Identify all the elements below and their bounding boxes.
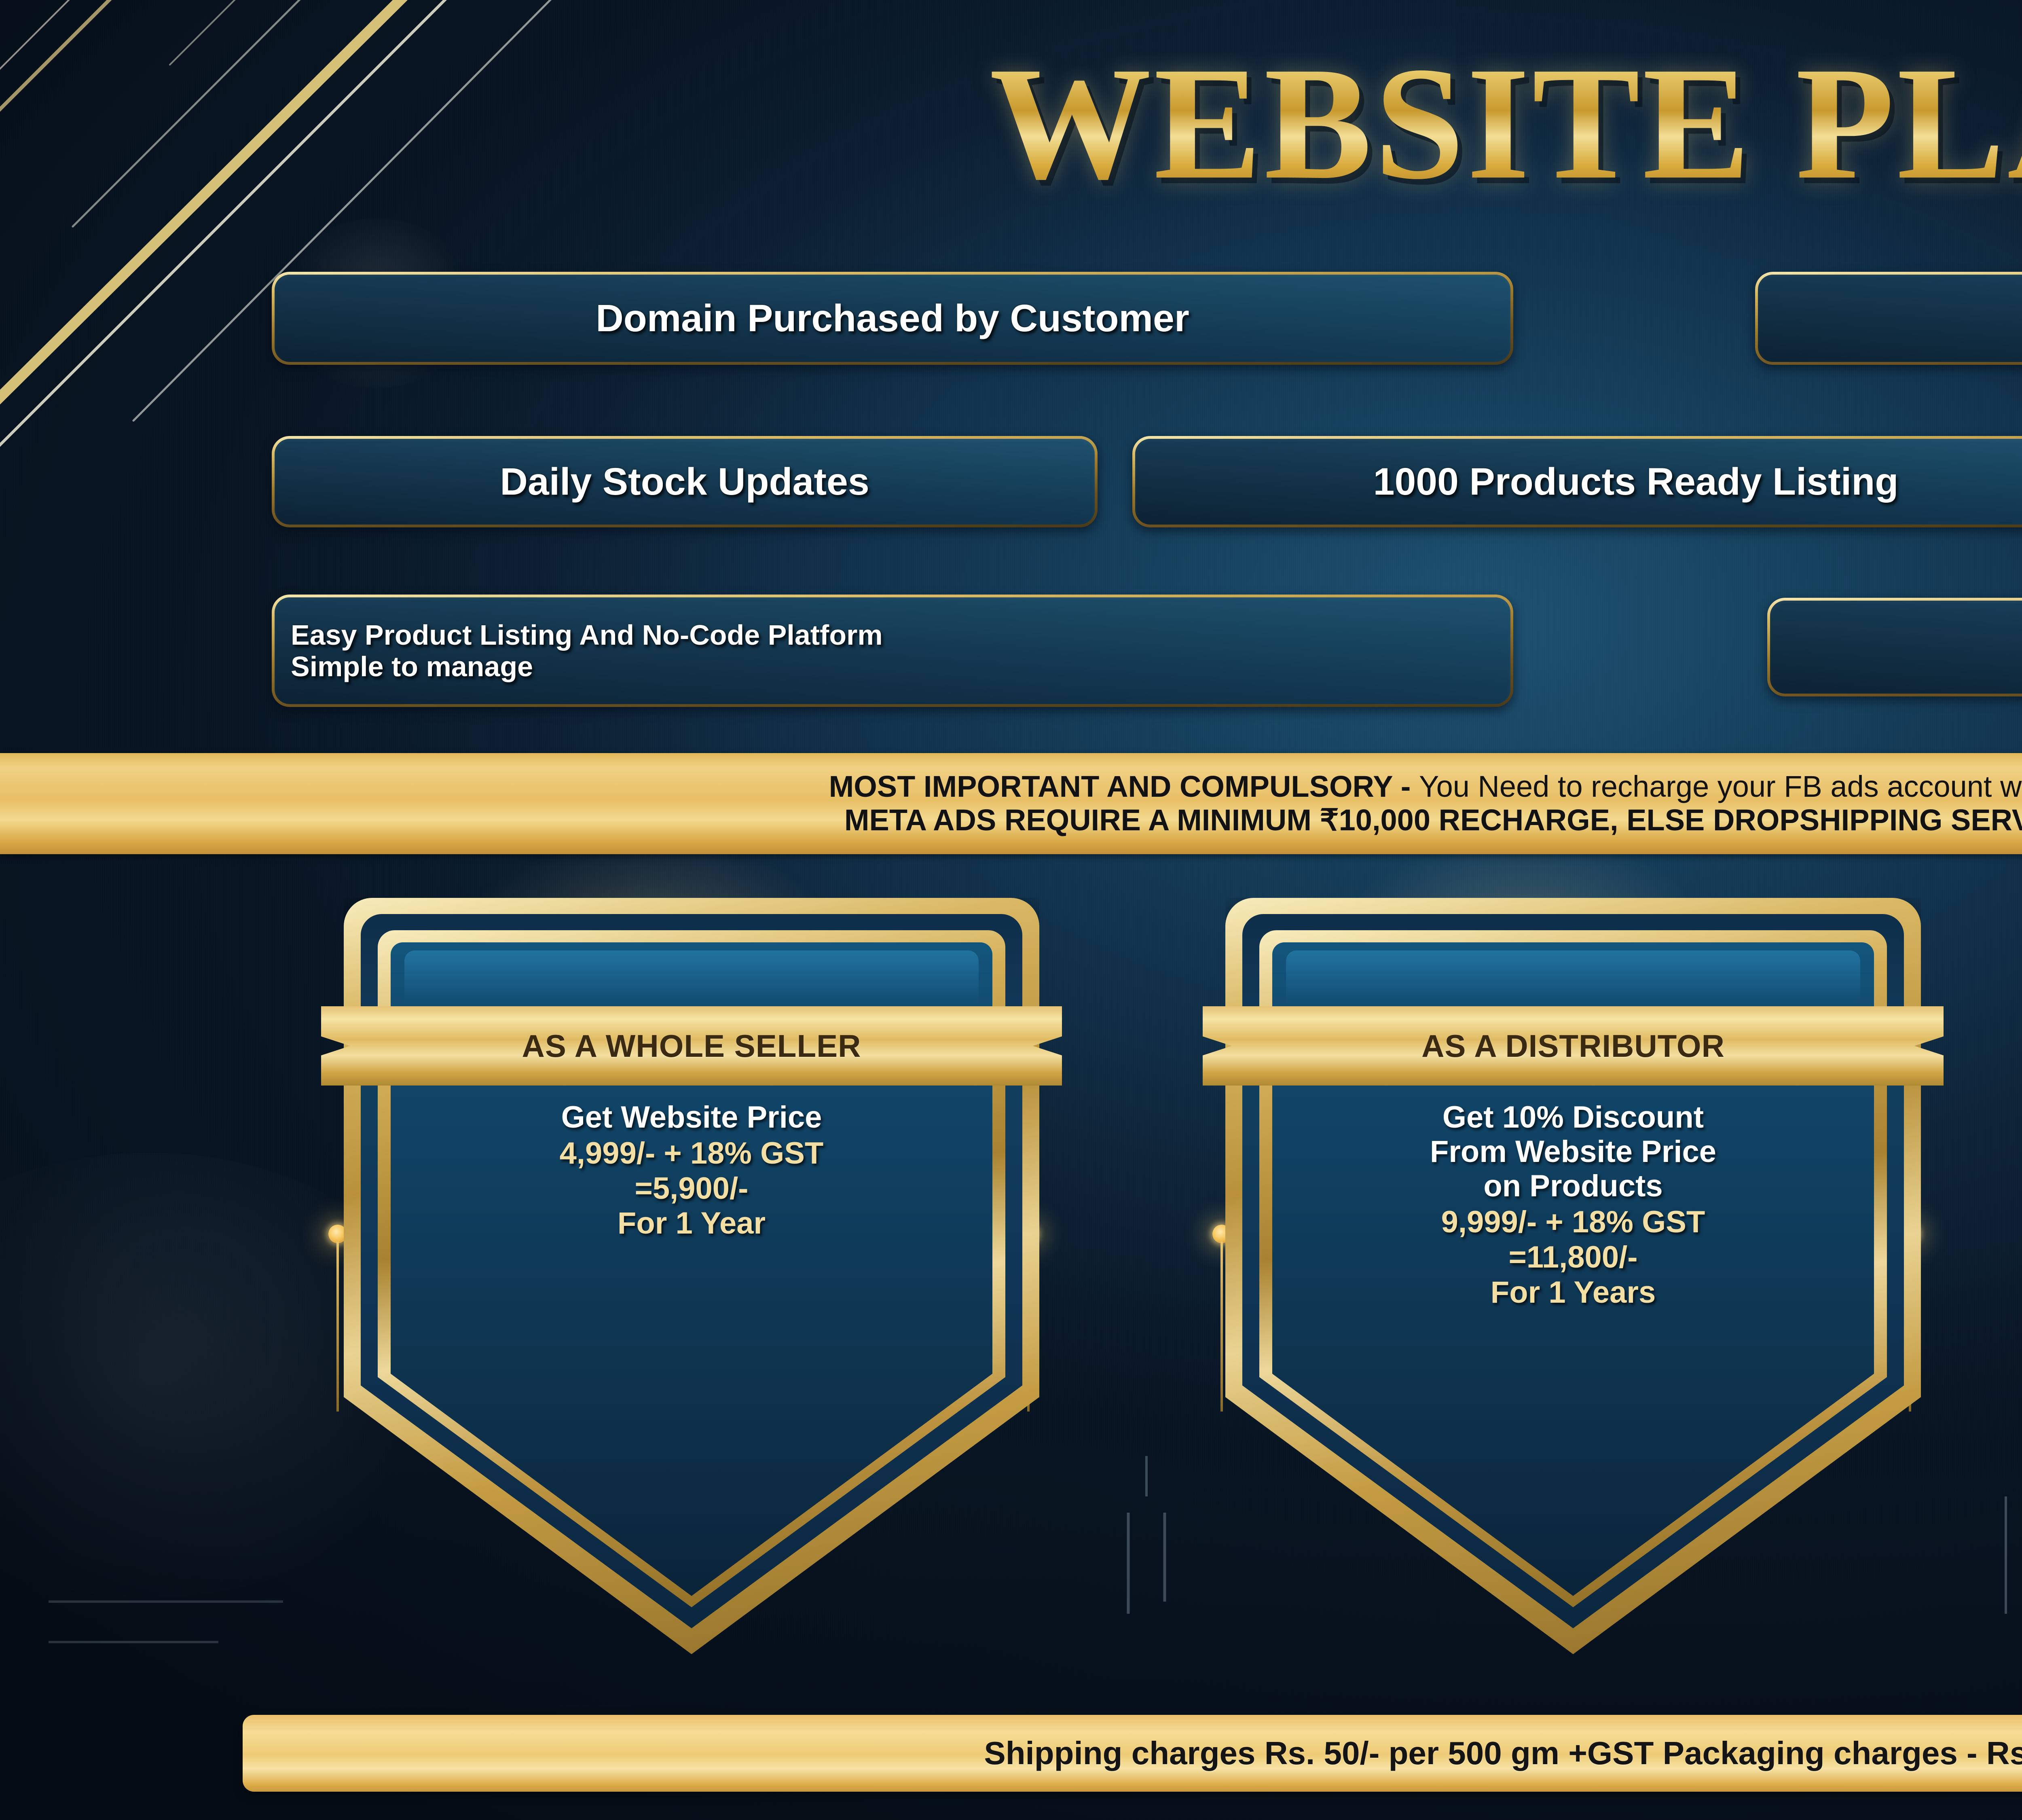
shipping-charges-label: Shipping charges Rs. 50/- per 500 gm +GS… — [984, 1735, 2022, 1772]
feature-pill-label: Daily Stock Updates — [275, 460, 1095, 504]
plan-ribbon-label: AS A WHOLE SELLER — [522, 1028, 861, 1064]
page-title: WEBSITE PLAN — [0, 42, 2022, 204]
plan-pricing: 4,999/- + 18% GST =5,900/- For 1 Year — [404, 1136, 979, 1241]
feature-pill-domain-purchased[interactable]: Domain Purchased by Customer — [272, 272, 1513, 365]
notice-line-1: MOST IMPORTANT AND COMPULSORY - You Need… — [829, 771, 2022, 802]
glow-stem — [336, 1242, 339, 1412]
glow-stem — [1220, 1242, 1223, 1412]
plan-ribbon-label: AS A DISTRIBUTOR — [1421, 1028, 1725, 1064]
feature-pill-order-management-panel[interactable]: Order Management Panel — [1755, 272, 2022, 365]
plan-content: Get 10% Discount From Website Price on P… — [1286, 1100, 1860, 1310]
plan-ribbon: AS A DISTRIBUTOR — [1203, 1006, 1944, 1086]
plan-content: Get Website Price 4,999/- + 18% GST =5,9… — [404, 1100, 979, 1241]
compulsory-notice-banner: MOST IMPORTANT AND COMPULSORY - You Need… — [0, 753, 2022, 854]
plan-pricing: 9,999/- + 18% GST =11,800/- For 1 Years — [1286, 1205, 1860, 1310]
feature-pill-daily-stock-updates[interactable]: Daily Stock Updates — [272, 436, 1098, 527]
shipping-charges-banner: Shipping charges Rs. 50/- per 500 gm +GS… — [243, 1715, 2022, 1792]
feature-pill-google-ads-meta-pixel[interactable]: Google Ads & Meta Pixel Integration — [1767, 598, 2022, 696]
plan-ribbon: AS A WHOLE SELLER — [321, 1006, 1062, 1086]
plan-description: Get 10% Discount From Website Price on P… — [1286, 1100, 1860, 1203]
feature-pill-label: Easy Product Listing And No-Code Platfor… — [275, 619, 1510, 683]
pricing-shield-whole-seller[interactable]: AS A WHOLE SELLER Get Website Price 4,99… — [344, 898, 1039, 1654]
notice-line-1-rest: You Need to recharge your FB ads account… — [1419, 770, 2022, 803]
feature-pill-label: 1000 Products Ready Listing — [1135, 460, 2022, 504]
feature-pill-label: Domain Purchased by Customer — [275, 296, 1510, 341]
notice-line-2: META ADS REQUIRE A MINIMUM ₹10,000 RECHA… — [844, 805, 2022, 836]
feature-pill-label: Google Ads & Meta Pixel Integration — [1770, 625, 2022, 669]
pricing-shield-distributor[interactable]: AS A DISTRIBUTOR Get 10% Discount From W… — [1225, 898, 1921, 1654]
notice-line-1-bold: MOST IMPORTANT AND COMPULSORY - — [829, 770, 1419, 803]
plan-description: Get Website Price — [404, 1100, 979, 1134]
feature-pill-easy-product-listing[interactable]: Easy Product Listing And No-Code Platfor… — [272, 595, 1513, 707]
feature-pill-products-ready-listing[interactable]: 1000 Products Ready Listing — [1132, 436, 2022, 527]
feature-pill-label: Order Management Panel — [1758, 296, 2022, 341]
